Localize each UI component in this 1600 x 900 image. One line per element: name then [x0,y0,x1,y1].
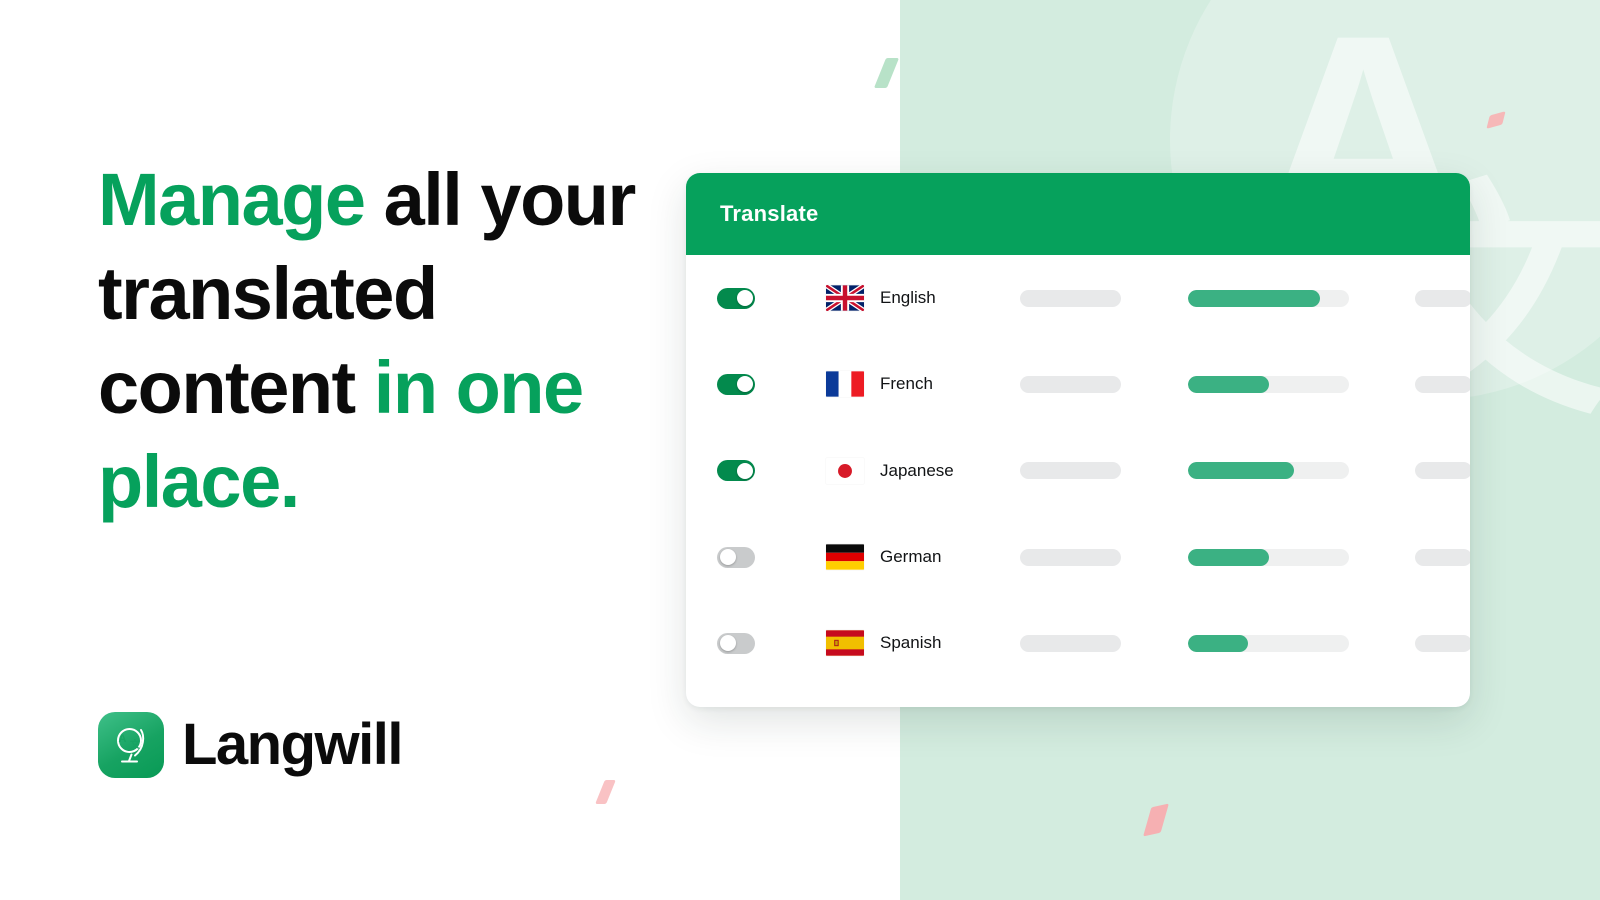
language-label: English [880,288,1000,308]
placeholder-bar-small [1415,635,1470,652]
placeholder-bar [1020,376,1121,393]
language-toggle-french[interactable] [717,374,755,395]
headline-segment-1: Manage [98,158,384,241]
translation-progress-french [1188,376,1349,393]
language-toggle-german[interactable] [717,547,755,568]
brand-name: Langwill [182,716,402,774]
progress-fill [1188,290,1320,307]
card-header: Translate [686,173,1470,255]
translate-card: Translate English [686,173,1470,707]
progress-fill [1188,462,1294,479]
translate-globe-icon: A 文 [98,712,164,778]
language-toggle-spanish[interactable] [717,633,755,654]
decor-green-parallelogram [874,58,899,88]
language-list: English French [686,255,1470,686]
toggle-knob [720,549,736,565]
placeholder-bar-small [1415,376,1470,393]
placeholder-bar [1020,290,1121,307]
svg-text:文: 文 [130,738,141,751]
translation-progress-german [1188,549,1349,566]
brand-logo[interactable]: A 文 Langwill [98,712,402,778]
translation-progress-japanese [1188,462,1349,479]
language-label: Spanish [880,633,1000,653]
toggle-knob [720,635,736,651]
placeholder-bar-small [1415,290,1470,307]
decor-pink-parallelogram-bottom-left [595,780,616,804]
placeholder-bar-small [1415,462,1470,479]
flag-spain-icon [826,630,864,656]
toggle-knob [737,463,753,479]
language-toggle-japanese[interactable] [717,460,755,481]
flag-uk-icon [826,285,864,311]
language-toggle-english[interactable] [717,288,755,309]
placeholder-bar-small [1415,549,1470,566]
translation-progress-spanish [1188,635,1349,652]
progress-fill [1188,376,1269,393]
placeholder-bar [1020,635,1121,652]
progress-fill [1188,549,1269,566]
table-row[interactable]: Japanese [686,428,1470,514]
progress-fill [1188,635,1248,652]
table-row[interactable]: French [686,341,1470,427]
page-headline: Manage all your translated content in on… [98,153,658,529]
svg-text:A: A [119,733,127,745]
toggle-knob [737,376,753,392]
language-label: French [880,374,1000,394]
toggle-knob [737,290,753,306]
flag-france-icon [826,371,864,397]
table-row[interactable]: English [686,255,1470,341]
language-label: Japanese [880,461,1000,481]
flag-germany-icon [826,544,864,570]
table-row[interactable]: German [686,514,1470,600]
translation-progress-english [1188,290,1349,307]
table-row[interactable]: Spanish [686,600,1470,686]
language-label: German [880,547,1000,567]
card-title: Translate [720,201,818,227]
placeholder-bar [1020,462,1121,479]
placeholder-bar [1020,549,1121,566]
flag-japan-icon [826,458,864,484]
